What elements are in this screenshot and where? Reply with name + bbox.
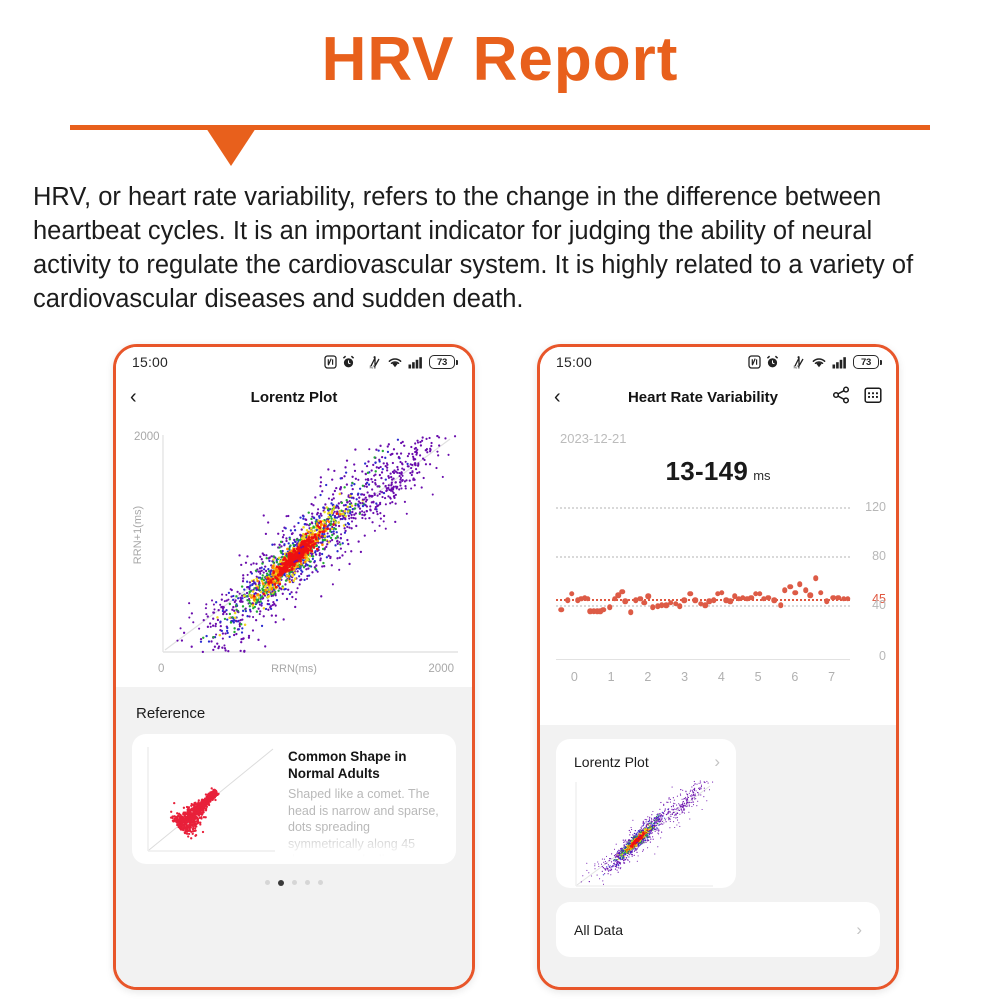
all-data-card[interactable]: All Data ›: [556, 902, 880, 957]
right-cards-section: Lorentz Plot › All Data: [540, 725, 896, 987]
lorentz-y-axis-title: RRN+1(ms): [132, 506, 144, 564]
lorentz-y-max-label: 2000: [134, 431, 160, 443]
hrv-data-point: [788, 584, 794, 590]
hrv-unit: ms: [753, 468, 770, 483]
hrv-scatter-chart: 1208045400 01234567: [540, 499, 896, 694]
hrv-x-tick-5: 5: [740, 670, 777, 684]
hrv-data-point: [565, 597, 571, 603]
right-screen: 15:00 K/s: [540, 347, 896, 987]
hrv-data-point: [677, 603, 683, 609]
reference-section-title: Reference: [116, 687, 472, 722]
hrv-x-tick-7: 7: [813, 670, 850, 684]
battery-level-label: 73: [429, 355, 455, 369]
lorentz-plot-chart: 2000 RRN+1(ms) 0 RRN(ms) 2000: [116, 417, 472, 679]
battery-icon: 73: [429, 355, 458, 369]
hrv-data-point: [569, 591, 575, 597]
reference-section: Reference Common Shape in Normal Adults …: [116, 687, 472, 987]
reference-card-heading: Common Shape in Normal Adults: [288, 748, 440, 782]
hrv-y-label-40: 40: [872, 598, 886, 612]
hrv-data-point: [793, 590, 799, 596]
signal-icon: [832, 356, 848, 369]
hrv-data-point: [824, 599, 830, 605]
svg-text:K/s: K/s: [370, 365, 377, 369]
hrv-data-point: [719, 590, 725, 596]
hrv-x-tick-6: 6: [777, 670, 814, 684]
hrv-data-point: [782, 588, 788, 594]
hrv-y-label-80: 80: [872, 549, 886, 563]
data-rate-icon: K/s: [793, 355, 806, 369]
hrv-gridline-80: [556, 556, 850, 558]
hrv-gridline-120: [556, 507, 850, 509]
wifi-icon: [387, 356, 403, 369]
alarm-icon: [342, 355, 355, 369]
hrv-value: 13-149: [665, 456, 748, 486]
hrv-data-point: [765, 595, 771, 601]
left-nav-title: Lorentz Plot: [156, 389, 432, 406]
lorentz-plot-canvas: [162, 435, 458, 653]
hrv-data-point: [620, 589, 626, 595]
hrv-data-point: [778, 602, 784, 608]
hrv-data-point: [711, 597, 717, 603]
all-data-title: All Data: [574, 922, 856, 938]
carousel-dot[interactable]: [265, 880, 270, 885]
right-status-bar: 15:00 K/s: [540, 347, 896, 377]
hrv-report-page: HRV Report HRV, or heart rate variabilit…: [0, 0, 1000, 1000]
hrv-value-row: 13-149ms: [540, 456, 896, 487]
hrv-data-point: [807, 592, 813, 598]
hrv-y-label-0: 0: [879, 649, 886, 663]
header-arrow-marker: [206, 128, 256, 166]
hrv-data-point: [623, 599, 629, 605]
lorentz-x-axis-title: RRN(ms): [116, 663, 472, 675]
hrv-data-point: [845, 596, 851, 602]
hrv-x-tick-4: 4: [703, 670, 740, 684]
hrv-y-label-120: 120: [865, 500, 886, 514]
status-clock: 15:00: [132, 354, 168, 370]
nfc-icon: [324, 355, 337, 369]
hrv-data-point: [607, 605, 613, 611]
back-button[interactable]: ‹: [130, 387, 156, 407]
page-title: HRV Report: [0, 22, 1000, 98]
status-clock: 15:00: [556, 354, 592, 370]
hrv-data-point: [797, 581, 803, 587]
carousel-page-dots[interactable]: [116, 880, 472, 886]
carousel-dot[interactable]: [278, 880, 284, 886]
hrv-x-tick-2: 2: [630, 670, 667, 684]
hrv-data-point: [772, 597, 778, 603]
hrv-data-point: [641, 600, 647, 606]
carousel-dot[interactable]: [292, 880, 297, 885]
reference-card[interactable]: Common Shape in Normal Adults Shaped lik…: [132, 734, 456, 864]
hrv-plot-canvas: [556, 507, 850, 654]
left-status-bar: 15:00 K/s: [116, 347, 472, 377]
hrv-data-point: [728, 599, 734, 605]
lorentz-plot-card[interactable]: Lorentz Plot ›: [556, 739, 736, 888]
back-button[interactable]: ‹: [554, 387, 580, 407]
hrv-data-point: [818, 590, 824, 596]
hrv-x-tick-1: 1: [593, 670, 630, 684]
battery-icon: 73: [853, 355, 882, 369]
intro-paragraph: HRV, or heart rate variability, refers t…: [33, 180, 949, 316]
right-nav-bar: ‹ Heart Rate Variability: [540, 377, 896, 417]
hrv-data-point: [813, 575, 819, 581]
wifi-icon: [811, 356, 827, 369]
chevron-right-icon: ›: [856, 921, 862, 938]
lorentz-card-thumbnail: [574, 780, 714, 888]
data-rate-icon: K/s: [369, 355, 382, 369]
lorentz-card-title: Lorentz Plot: [574, 754, 714, 770]
chevron-right-icon: ›: [714, 753, 720, 770]
hrv-x-axis-line: [556, 659, 850, 661]
svg-text:K/s: K/s: [794, 365, 801, 369]
calendar-icon[interactable]: [864, 386, 882, 409]
phone-mockup-right: 15:00 K/s: [537, 344, 899, 990]
carousel-dot[interactable]: [305, 880, 310, 885]
hrv-data-point: [628, 610, 634, 616]
reference-thumbnail-chart: [146, 745, 276, 853]
right-nav-title: Heart Rate Variability: [580, 389, 826, 406]
hrv-data-point: [601, 607, 607, 613]
hrv-x-tick-3: 3: [666, 670, 703, 684]
header-divider: [70, 125, 930, 130]
left-screen: 15:00 K/s: [116, 347, 472, 987]
signal-icon: [408, 356, 424, 369]
reference-card-text: Common Shape in Normal Adults Shaped lik…: [276, 734, 456, 864]
hrv-data-point: [585, 596, 591, 602]
hrv-data-point: [688, 591, 694, 597]
share-icon[interactable]: [832, 386, 850, 409]
hrv-x-axis-ticks: 01234567: [556, 670, 850, 684]
battery-level-label: 73: [853, 355, 879, 369]
phone-mockup-left: 15:00 K/s: [113, 344, 475, 990]
hrv-data-point: [681, 597, 687, 603]
hrv-x-tick-0: 0: [556, 670, 593, 684]
nfc-icon: [748, 355, 761, 369]
hrv-data-point: [559, 607, 565, 613]
text-fade-overlay: [276, 830, 456, 864]
alarm-icon: [766, 355, 779, 369]
hrv-data-point: [646, 594, 652, 600]
lorentz-x-max-label: 2000: [428, 663, 454, 675]
left-nav-bar: ‹ Lorentz Plot: [116, 377, 472, 417]
hrv-date-label: 2023-12-21: [540, 417, 896, 446]
carousel-dot[interactable]: [318, 880, 323, 885]
